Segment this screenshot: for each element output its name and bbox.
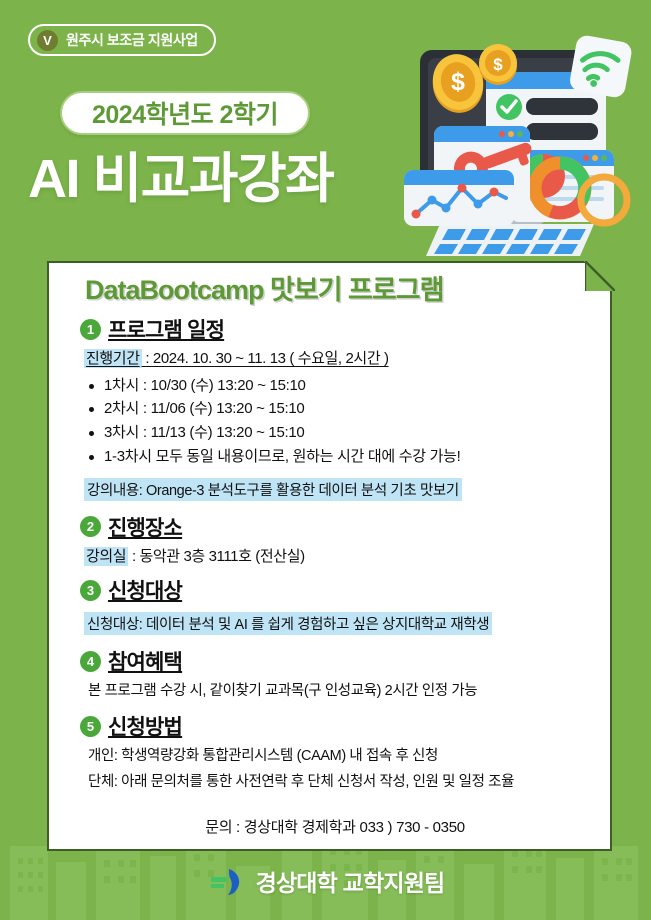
section-1-heading: 1 프로그램 일정 [80, 314, 590, 344]
footer-label: 경상대학 교학지원팀 [256, 864, 445, 898]
section-2-heading: 2 진행장소 [80, 512, 590, 542]
contact-info: 문의 : 경상대학 경제학과 033 ) 730 - 0350 [80, 816, 590, 837]
list-item: 3차시 : 11/13 (수) 13:20 ~ 15:10 [80, 421, 590, 445]
poster-root: V 원주시 보조금 지원사업 2024학년도 2학기 AI 비교과강좌 [0, 0, 651, 920]
coins-icon: $ $ [427, 44, 517, 118]
semester-label: 2024학년도 2학기 [92, 95, 278, 131]
section-5-title: 신청방법 [108, 711, 182, 741]
poster-headline: AI 비교과강좌 [28, 152, 333, 206]
section-1-number: 1 [80, 319, 101, 340]
section-4-title: 참여혜택 [108, 646, 182, 676]
list-item: 1-3차시 모두 동일 내용이므로, 원하는 시간 대에 수강 가능! [80, 445, 590, 469]
section-3-target: 신청대상: 데이터 분석 및 AI 를 쉽게 경험하고 싶은 상지대학교 재학생 [84, 612, 492, 635]
section-2-place: 강의실 : 동악관 3층 3111호 (전산실) [84, 546, 590, 568]
list-item: 2차시 : 11/06 (수) 13:20 ~ 15:10 [80, 397, 590, 421]
section-5-heading: 5 신청방법 [80, 711, 590, 741]
list-item: 1차시 : 10/30 (수) 13:20 ~ 15:10 [80, 374, 590, 398]
svg-text:$: $ [451, 68, 465, 96]
wifi-icon [568, 34, 633, 99]
section-3-number: 3 [80, 580, 101, 601]
semester-pill: 2024학년도 2학기 [60, 91, 310, 135]
svg-text:$: $ [493, 55, 503, 74]
card-content: DataBootcamp 맛보기 프로그램 1 프로그램 일정 진행기간 : 2… [47, 261, 612, 837]
section-5-group: 단체: 아래 문의처를 통한 사전연락 후 단체 신청서 작성, 인원 및 일정… [88, 771, 590, 794]
section-2-title: 진행장소 [108, 512, 182, 542]
subsidy-badge-label: 원주시 보조금 지원사업 [66, 30, 198, 50]
section-3-title: 신청대상 [108, 575, 182, 605]
section-1-period: 진행기간 : 2024. 10. 30 ~ 11. 13 ( 수요일, 2시간 … [84, 348, 590, 370]
section-1-course-content: 강의내용: Orange-3 분석도구를 활용한 데이터 분석 기초 맛보기 [84, 478, 462, 501]
place-label: 강의실 [84, 547, 128, 566]
shield-v-icon: V [37, 30, 58, 51]
section-4-heading: 4 참여혜택 [80, 646, 590, 676]
section-5-number: 5 [80, 716, 101, 737]
section-2-number: 2 [80, 516, 101, 537]
footer: 경상대학 교학지원팀 [0, 864, 651, 898]
section-1-title: 프로그램 일정 [108, 314, 224, 344]
card-title: DataBootcamp 맛보기 프로그램 [85, 275, 590, 306]
section-5-individual: 개인: 학생역량강화 통합관리시스템 (CAAM) 내 접속 후 신청 [88, 745, 590, 768]
sangji-university-logo-icon [207, 865, 247, 897]
subsidy-badge: V 원주시 보조금 지원사업 [28, 24, 216, 56]
section-3-heading: 3 신청대상 [80, 575, 590, 605]
period-label: 진행기간 [84, 349, 142, 368]
period-value: : 2024. 10. 30 ~ 11. 13 ( 수요일, 2시간 ) [142, 350, 389, 367]
schedule-bullet-list: 1차시 : 10/30 (수) 13:20 ~ 15:10 2차시 : 11/0… [80, 374, 590, 469]
section-4-number: 4 [80, 651, 101, 672]
place-value: : 동악관 3층 3111호 (전산실) [128, 548, 304, 565]
data-analytics-monitor-illustration: $ $ [382, 28, 644, 263]
section-4-benefit: 본 프로그램 수강 시, 같이찾기 교과목(구 인성교육) 2시간 인정 가능 [88, 680, 590, 703]
